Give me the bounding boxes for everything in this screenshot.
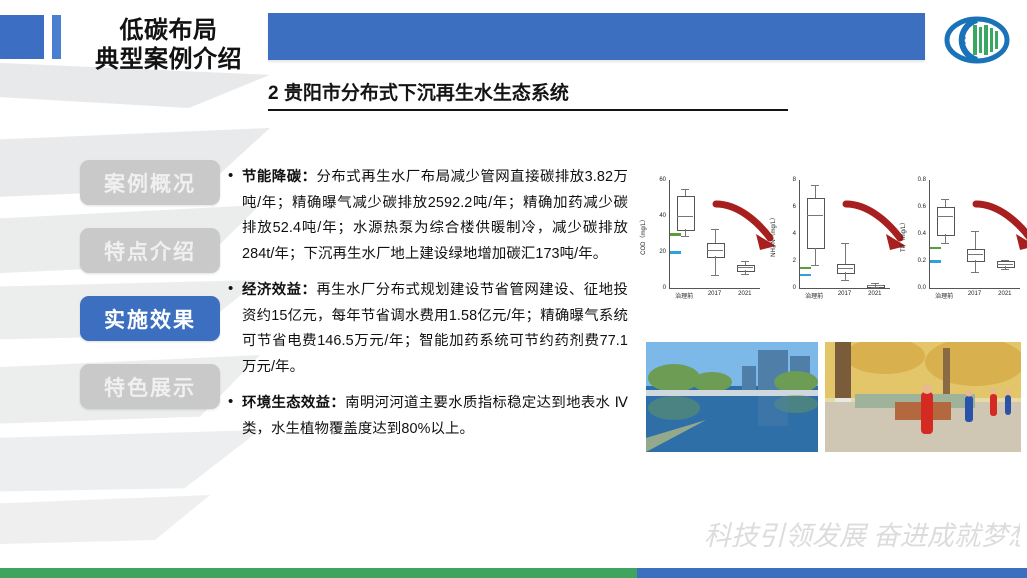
chart-y-ticks: 0204060	[648, 176, 668, 288]
deck-title: 低碳布局 典型案例介绍	[76, 16, 261, 75]
chart-plot-area	[929, 180, 1020, 289]
sidebar-item-3[interactable]: 实施效果	[80, 296, 220, 341]
boxplot-cap	[811, 265, 819, 266]
boxplot-whisker	[975, 260, 976, 272]
river-cityscape-photo	[646, 342, 818, 452]
chart-x-labels: 治理前20172021	[669, 291, 760, 300]
chart-x-tick: 治理前	[799, 291, 829, 300]
header-accent-stripe	[52, 15, 61, 59]
calligraphy-slogan: 科技引领发展 奋进成就梦想	[700, 515, 1020, 557]
boxplot-whisker	[685, 229, 686, 236]
boxplot-cap	[681, 189, 689, 190]
boxplot-median	[707, 250, 723, 251]
boxplot-whisker	[715, 256, 716, 276]
decorative-ribbon	[0, 430, 260, 492]
boxplot-cap	[681, 236, 689, 237]
organization-logo	[941, 16, 1013, 64]
box-chart-3: TP（mg/L）0.00.20.40.60.8治理前20172021	[896, 176, 1022, 316]
bullet-text: 节能降碳：分布式再生水厂布局减少管网直接碳排放3.82万吨/年；精确曝气减少碳排…	[242, 165, 628, 267]
chart-y-axis-label: NH₃-N（mg/L）	[766, 176, 778, 294]
water-quality-charts: COD（mg/L）0204060治理前20172021NH₃-N（mg/L）02…	[636, 176, 1026, 316]
boxplot-median	[997, 264, 1013, 265]
boxplot-whisker	[945, 199, 946, 207]
chart-y-tick: 0.8	[918, 177, 926, 183]
boxplot-median	[737, 267, 753, 268]
boxplot-whisker	[845, 272, 846, 280]
boxplot-whisker	[945, 234, 946, 243]
calligraphy-text: 科技引领发展 奋进成就梦想	[704, 521, 1020, 551]
boxplot-box	[677, 196, 695, 230]
chart-x-tick: 2017	[829, 291, 859, 300]
chart-y-tick: 0.2	[918, 258, 926, 264]
chart-y-axis-label: COD（mg/L）	[636, 176, 648, 294]
sidebar-item-4[interactable]: 特色展示	[80, 364, 220, 409]
deck-title-line-1: 低碳布局	[76, 16, 261, 45]
boxplot-cap	[1001, 260, 1009, 261]
boxplot-whisker	[975, 231, 976, 249]
footer-bar-green	[0, 568, 637, 578]
chart-y-tick: 0.0	[918, 285, 926, 291]
boxplot-median	[937, 216, 953, 217]
chart-x-tick: 2021	[730, 291, 760, 300]
boxplot-cap	[741, 261, 749, 262]
header-accent-block	[0, 15, 44, 59]
chart-y-tick: 0.6	[918, 204, 926, 210]
boxplot-whisker	[815, 185, 816, 197]
chart-y-tick: 2	[793, 258, 796, 264]
chart-x-tick: 2021	[990, 291, 1020, 300]
chart-x-tick: 2021	[860, 291, 890, 300]
boxplot-cap	[711, 229, 719, 230]
footer-bar-blue	[637, 568, 1027, 578]
bullet-item: •环境生态效益：南明河河道主要水质指标稳定达到地表水 Ⅳ 类，水生植物覆盖度达到…	[228, 391, 628, 442]
boxplot-cap	[711, 275, 719, 276]
boxplot-median	[837, 268, 853, 269]
sidebar-item-label: 特点介绍	[104, 236, 196, 266]
chart-plot-area	[799, 180, 890, 289]
boxplot-box	[937, 207, 955, 236]
boxplot-whisker	[685, 189, 686, 196]
boxplot-cap	[871, 287, 879, 288]
chart-y-tick: 0.4	[918, 231, 926, 237]
sidebar-item-label: 实施效果	[104, 304, 196, 334]
riverside-park-exercise-photo	[825, 342, 1021, 452]
boxplot-box	[997, 261, 1015, 268]
chart-y-tick: 20	[659, 249, 666, 255]
bullet-marker: •	[228, 391, 242, 442]
box-chart-2: NH₃-N（mg/L）02468治理前20172021	[766, 176, 892, 316]
sidebar-item-1[interactable]: 案例概况	[80, 160, 220, 205]
boxplot-box	[737, 265, 755, 272]
boxplot-whisker	[815, 248, 816, 266]
deck-title-line-2: 典型案例介绍	[76, 45, 261, 74]
bullet-heading: 环境生态效益：	[242, 395, 345, 411]
chart-y-ticks: 02468	[778, 176, 798, 288]
bullet-text: 经济效益：再生水厂分布式规划建设节省管网建设、征地投资约15亿元，每年节省调水费…	[242, 278, 628, 380]
chart-x-tick: 2017	[699, 291, 729, 300]
chart-x-tick: 2017	[959, 291, 989, 300]
boxplot-cap	[971, 231, 979, 232]
content-bullet-list: •节能降碳：分布式再生水厂布局减少管网直接碳排放3.82万吨/年；精确曝气减少碳…	[228, 165, 628, 453]
sidebar-item-2[interactable]: 特点介绍	[80, 228, 220, 273]
bullet-heading: 节能降碳：	[242, 169, 317, 185]
bullet-text: 环境生态效益：南明河河道主要水质指标稳定达到地表水 Ⅳ 类，水生植物覆盖度达到8…	[242, 391, 628, 442]
chart-y-tick: 40	[659, 213, 666, 219]
boxplot-cap	[811, 185, 819, 186]
chart-y-tick: 0	[663, 285, 666, 291]
chart-y-tick: 60	[659, 177, 666, 183]
boxplot-box	[837, 264, 855, 274]
sidebar-item-label: 案例概况	[104, 168, 196, 198]
chart-y-ticks: 0.00.20.40.60.8	[908, 176, 928, 288]
boxplot-cap	[941, 199, 949, 200]
boxplot-cap	[741, 274, 749, 275]
bullet-marker: •	[228, 165, 242, 267]
decorative-ribbon	[0, 495, 210, 545]
boxplot-whisker	[715, 229, 716, 243]
boxplot-cap	[941, 243, 949, 244]
bullet-heading: 经济效益：	[242, 282, 316, 298]
boxplot-box	[967, 249, 985, 262]
boxplot-median	[807, 215, 823, 216]
boxplot-box	[807, 198, 825, 250]
chart-plot-area	[669, 180, 760, 289]
box-chart-1: COD（mg/L）0204060治理前20172021	[636, 176, 762, 316]
sidebar-item-label: 特色展示	[104, 372, 196, 402]
boxplot-cap	[841, 243, 849, 244]
chart-y-tick: 6	[793, 204, 796, 210]
chart-y-axis-label: TP（mg/L）	[896, 176, 908, 294]
chart-y-tick: 4	[793, 231, 796, 237]
boxplot-cap	[971, 272, 979, 273]
bullet-marker: •	[228, 278, 242, 380]
chart-y-tick: 0	[793, 285, 796, 291]
boxplot-whisker	[845, 243, 846, 263]
chart-x-labels: 治理前20172021	[929, 291, 1020, 300]
chart-x-labels: 治理前20172021	[799, 291, 890, 300]
header-blue-band	[268, 13, 925, 60]
boxplot-cap	[1001, 269, 1009, 270]
page-title: 2 贵阳市分布式下沉再生水生态系统	[268, 78, 788, 111]
chart-y-tick: 8	[793, 177, 796, 183]
boxplot-median	[967, 254, 983, 255]
bullet-item: •节能降碳：分布式再生水厂布局减少管网直接碳排放3.82万吨/年；精确曝气减少碳…	[228, 165, 628, 267]
chart-x-tick: 治理前	[929, 291, 959, 300]
boxplot-cap	[841, 280, 849, 281]
boxplot-median	[677, 216, 693, 217]
boxplot-cap	[871, 283, 879, 284]
chart-x-tick: 治理前	[669, 291, 699, 300]
bullet-item: •经济效益：再生水厂分布式规划建设节省管网建设、征地投资约15亿元，每年节省调水…	[228, 278, 628, 380]
